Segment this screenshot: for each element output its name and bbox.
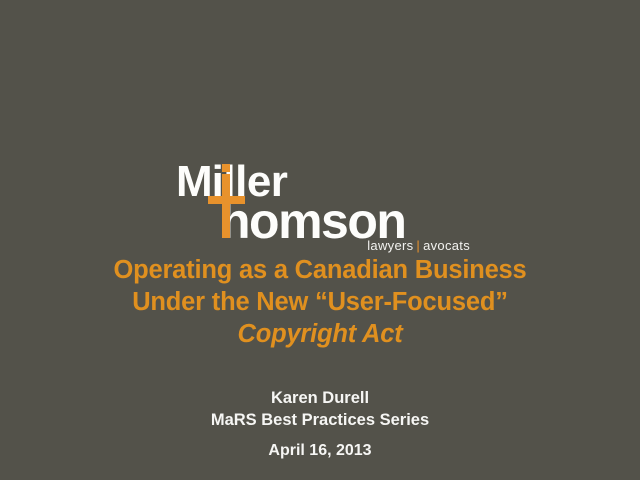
title-line-3-act-name: Copyright Act: [0, 318, 640, 350]
presenter-date: April 16, 2013: [0, 440, 640, 462]
logo-i-dot-icon: [222, 164, 230, 172]
title-slide: Miller homson lawyers|avocats Operating …: [0, 0, 640, 480]
logo-tagline-separator: |: [413, 238, 423, 253]
logo-tagline: lawyers|avocats: [367, 238, 470, 253]
page-title: Operating as a Canadian Business Under t…: [0, 254, 640, 350]
logo-miller-before-i: M: [176, 157, 212, 206]
logo-tagline-left: lawyers: [367, 238, 413, 253]
logo-tagline-right: avocats: [423, 238, 470, 253]
presenter-name: Karen Durell: [0, 387, 640, 409]
presenter-series: MaRS Best Practices Series: [0, 409, 640, 431]
title-line-1: Operating as a Canadian Business: [0, 254, 640, 286]
title-line-2: Under the New “User-Focused”: [0, 286, 640, 318]
logo-block: Miller homson lawyers|avocats: [0, 160, 640, 255]
logo-cross-stem-icon: [222, 174, 230, 238]
miller-thomson-logo: Miller homson lawyers|avocats: [170, 160, 470, 255]
logo-cross-bar-icon: [208, 196, 245, 204]
presenter-block: Karen Durell MaRS Best Practices Series …: [0, 387, 640, 462]
